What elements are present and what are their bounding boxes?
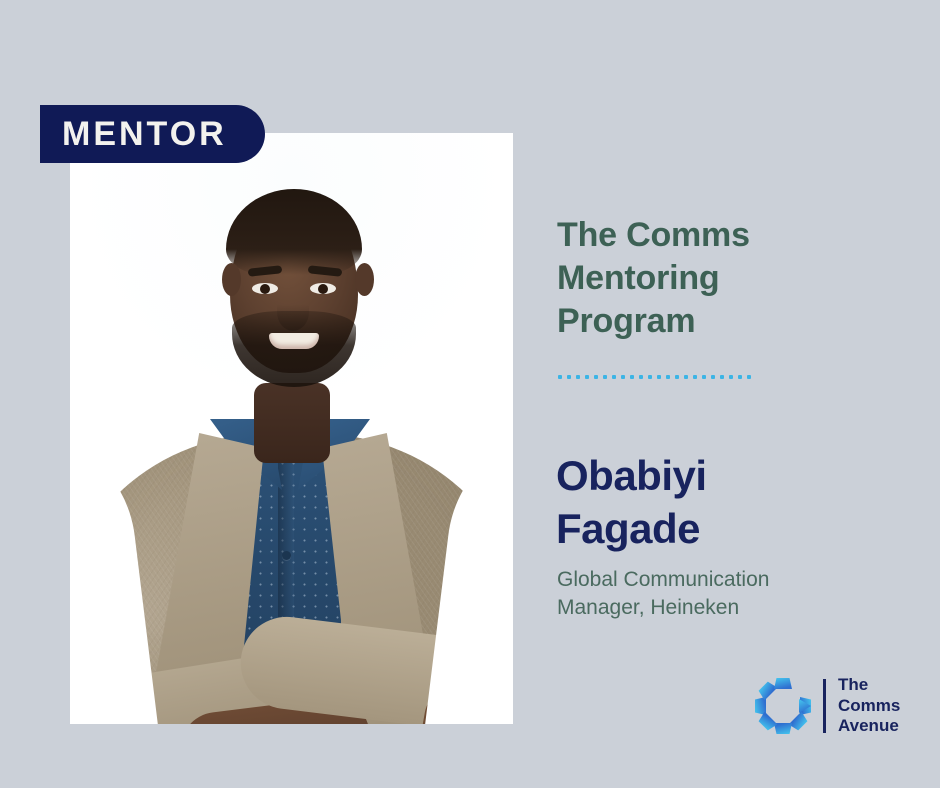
divider-dot (576, 375, 580, 379)
logo-text-line-3: Avenue (838, 716, 900, 737)
divider-dot (747, 375, 751, 379)
ear-left (222, 263, 241, 296)
logo-text-line-1: The (838, 675, 900, 696)
divider-dot (639, 375, 643, 379)
logo-wordmark: The Comms Avenue (838, 675, 900, 737)
shirt-button (282, 551, 291, 560)
divider-dot (684, 375, 688, 379)
eye-right (310, 283, 336, 294)
divider-dot (594, 375, 598, 379)
program-title: The Comms Mentoring Program (557, 214, 907, 344)
divider-dot (567, 375, 571, 379)
neck (254, 383, 330, 463)
divider-dot (648, 375, 652, 379)
dotted-divider (558, 375, 751, 379)
iris-right (318, 284, 328, 294)
ear-right (355, 263, 374, 296)
divider-dot (603, 375, 607, 379)
mentor-name: Obabiyi Fagade (556, 450, 916, 556)
comms-avenue-circle-mark-icon (752, 675, 814, 737)
program-title-line-3: Program (557, 300, 907, 343)
iris-left (260, 284, 270, 294)
mentor-badge-label: MENTOR (40, 117, 227, 151)
divider-dot (657, 375, 661, 379)
divider-dot (702, 375, 706, 379)
mentor-name-line-1: Obabiyi (556, 450, 916, 503)
mentor-badge: MENTOR (40, 105, 265, 163)
divider-dot (711, 375, 715, 379)
mentor-role: Global Communication Manager, Heineken (557, 566, 927, 622)
divider-dot (675, 375, 679, 379)
smile-mouth (269, 333, 319, 349)
mentor-role-line-2: Manager, Heineken (557, 594, 927, 622)
mentor-portrait-photo (70, 133, 513, 724)
divider-dot (738, 375, 742, 379)
divider-dot (621, 375, 625, 379)
mentor-announcement-poster: MENTOR (0, 0, 940, 788)
divider-dot (720, 375, 724, 379)
divider-dot (666, 375, 670, 379)
logo-text-line-2: Comms (838, 696, 900, 717)
divider-dot (558, 375, 562, 379)
divider-dot (630, 375, 634, 379)
divider-dot (729, 375, 733, 379)
divider-dot (612, 375, 616, 379)
mentor-name-line-2: Fagade (556, 503, 916, 556)
mentor-role-line-1: Global Communication (557, 566, 927, 594)
program-title-line-2: Mentoring (557, 257, 907, 300)
program-title-line-1: The Comms (557, 214, 907, 257)
divider-dot (585, 375, 589, 379)
logo-divider-rule (823, 679, 826, 733)
divider-dot (693, 375, 697, 379)
the-comms-avenue-logo: The Comms Avenue (752, 670, 904, 742)
eye-left (252, 283, 278, 294)
